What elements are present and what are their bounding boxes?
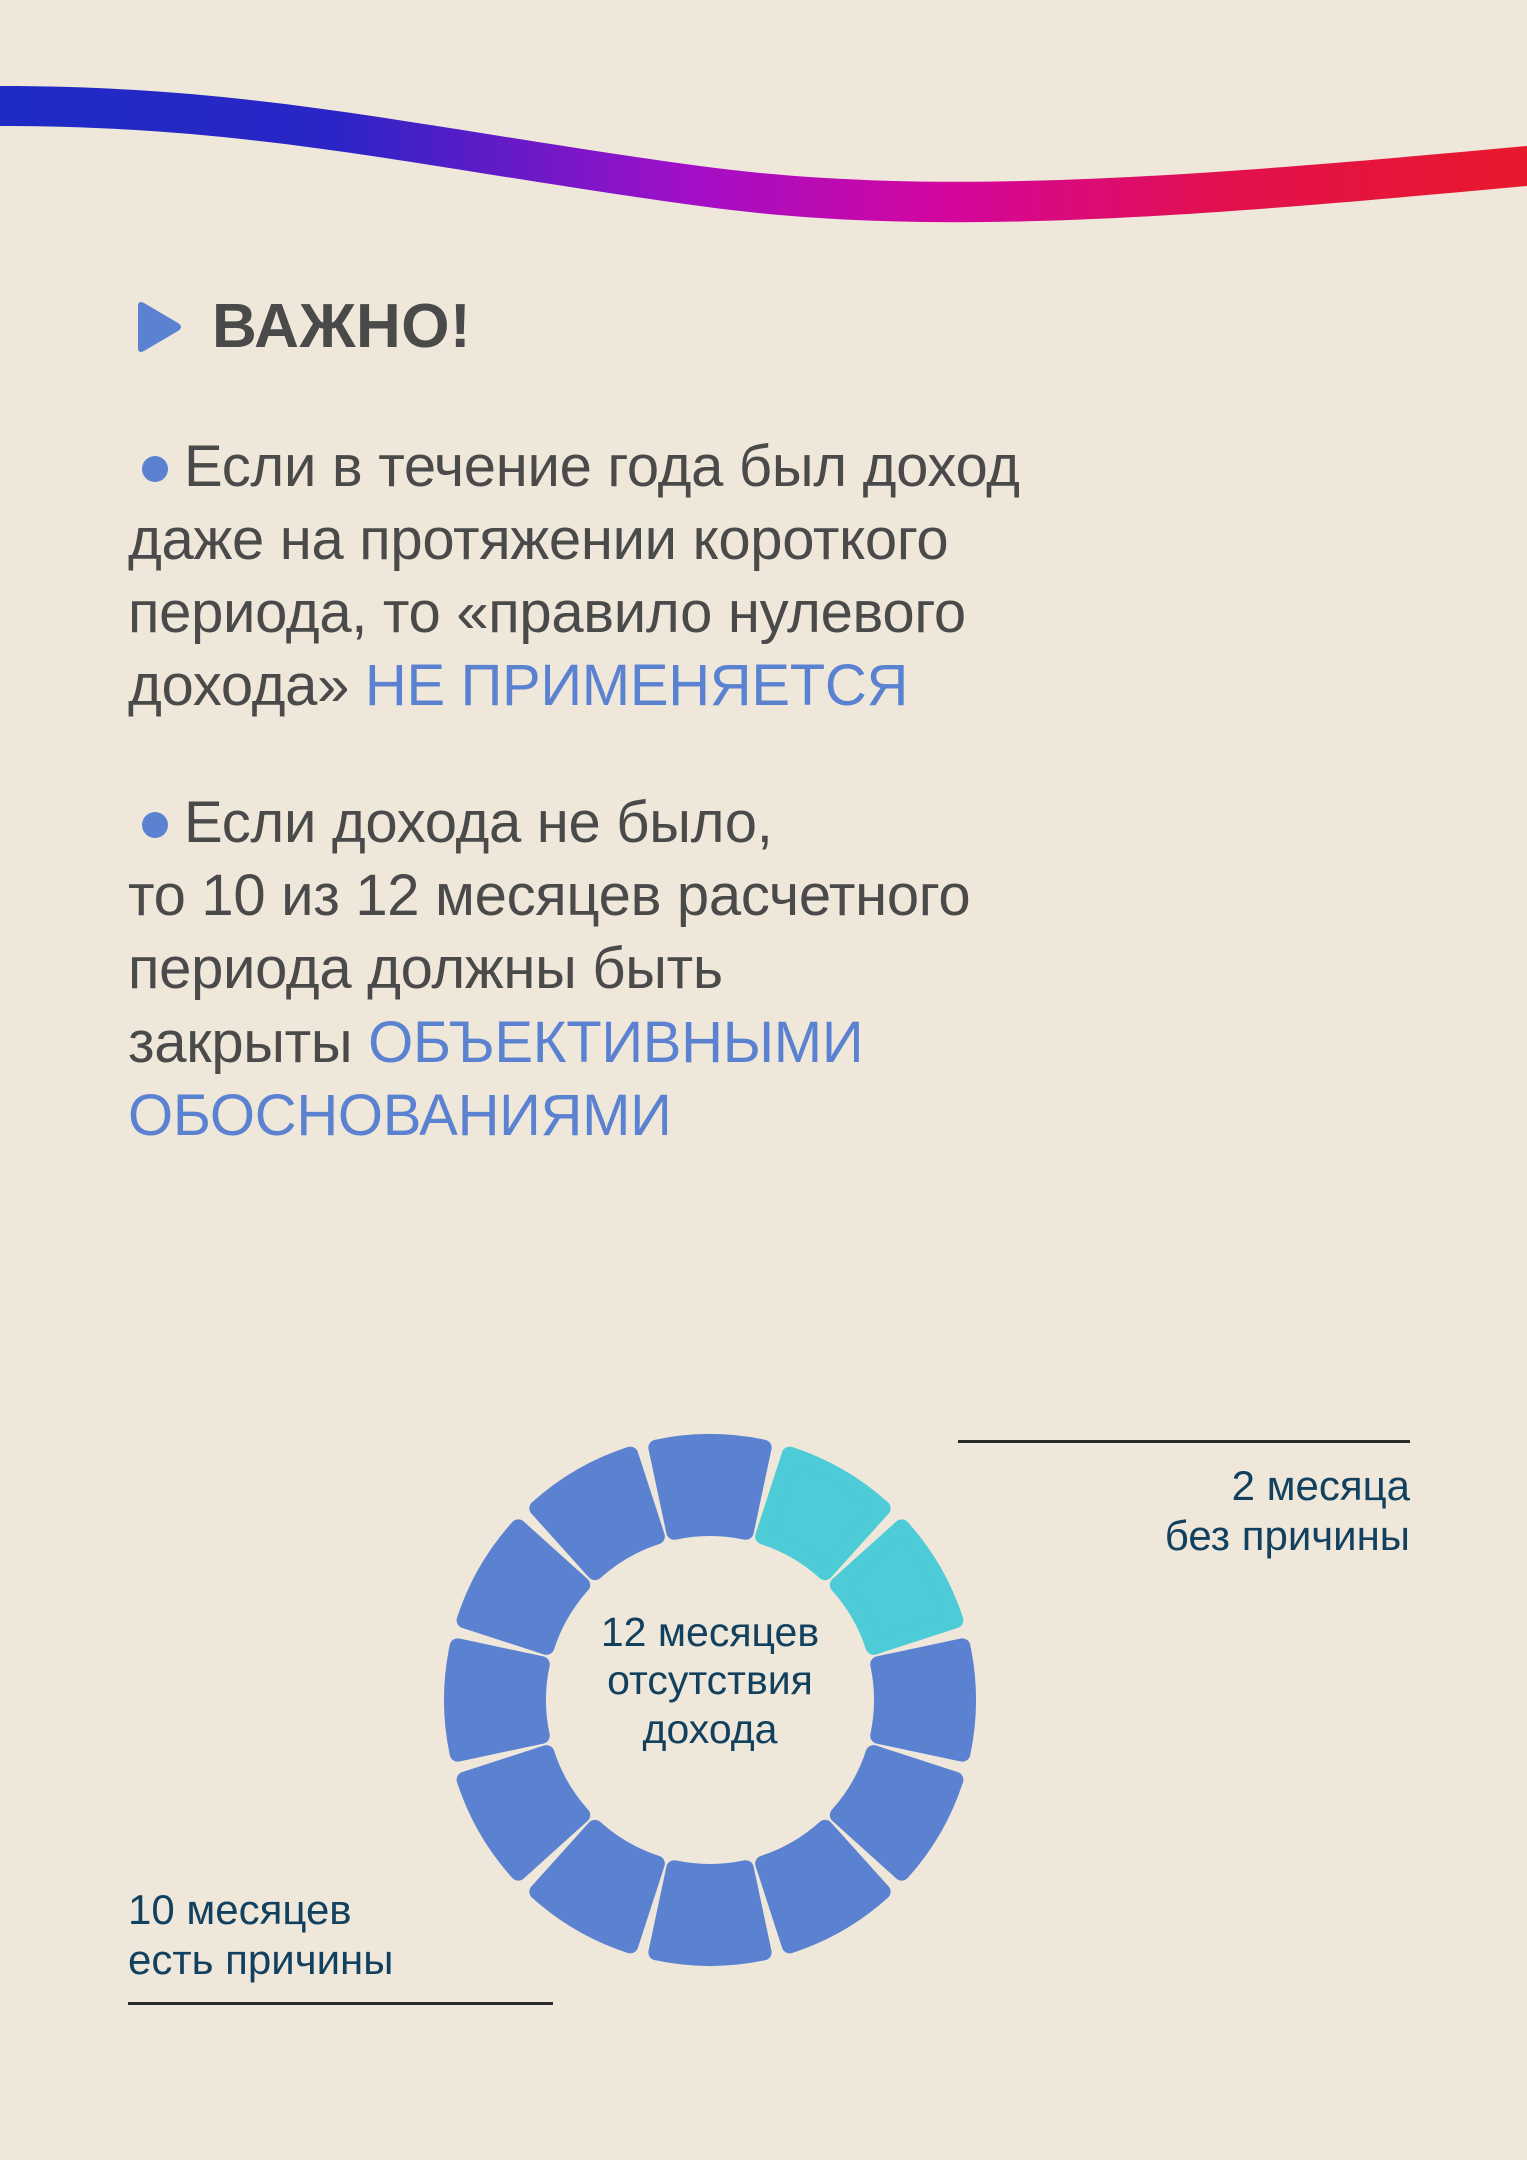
callout-right-line-1: 2 месяца [930,1461,1410,1511]
callout-left-rule [128,2002,553,2005]
bullet-2-highlight-1: ОБЪЕКТИВНЫМИ [368,1010,863,1075]
donut-center-line-1: 12 месяцев [545,1608,875,1656]
legend-callout-left: 10 месяцев есть причины [128,1885,558,2005]
callout-right-rule [958,1440,1410,1443]
callout-right-line-2: без причины [930,1511,1410,1561]
page-title: ВАЖНО! [212,296,471,358]
bullet-2-line-2: то 10 из 12 месяцев расчетного [128,859,1418,932]
bullet-1-text: Если в течение года был доход даже на пр… [128,430,1418,722]
callout-left-line-2: есть причины [128,1935,558,1985]
donut-center-label: 12 месяцев отсутствия дохода [545,1608,875,1753]
donut-segment [878,1646,968,1753]
donut-segment [656,1442,763,1532]
page-header: ВАЖНО! [128,296,471,358]
bullet-1-line-4-plain: дохода» [128,653,365,718]
content-body: Если в течение года был доход даже на пр… [128,430,1418,1216]
bullet-2-text: Если дохода не было, то 10 из 12 месяцев… [128,786,1418,1151]
bullet-1-line-1: Если в течение года был доход [128,430,1020,503]
donut-segment [656,1868,763,1958]
bullet-2-line-4: закрыты ОБЪЕКТИВНЫМИ [128,1006,1418,1079]
bullet-dot-icon [142,456,168,482]
donut-center-line-2: отсутствия [545,1656,875,1704]
bullet-1-line-2: даже на протяжении короткого [128,503,1418,576]
play-triangle-icon [128,298,184,356]
legend-callout-right: 2 месяца без причины [930,1440,1410,1562]
wave-svg [0,0,1527,260]
bullet-2-line-3: периода должны быть [128,932,1418,1005]
bullet-1-line-4: дохода» НЕ ПРИМЕНЯЕТСЯ [128,649,1418,722]
donut-chart-area: 12 месяцев отсутствия дохода 2 месяца бе… [0,1390,1527,2040]
bullet-2-line-1: Если дохода не было, [128,786,773,859]
bullet-block-2: Если дохода не было, то 10 из 12 месяцев… [128,786,1418,1151]
donut-segment [452,1646,542,1753]
bullet-block-1: Если в течение года был доход даже на пр… [128,430,1418,722]
bullet-1-highlight: НЕ ПРИМЕНЯЕТСЯ [365,653,908,718]
bullet-2-line-4-plain: закрыты [128,1010,368,1075]
decorative-wave-banner [0,0,1527,260]
donut-center-line-3: дохода [545,1705,875,1753]
bullet-2-highlight-2: ОБОСНОВАНИЯМИ [128,1079,1418,1152]
callout-left-line-1: 10 месяцев [128,1885,558,1935]
wave-path [0,86,1527,222]
bullet-1-line-3: периода, то «правило нулевого [128,576,1418,649]
